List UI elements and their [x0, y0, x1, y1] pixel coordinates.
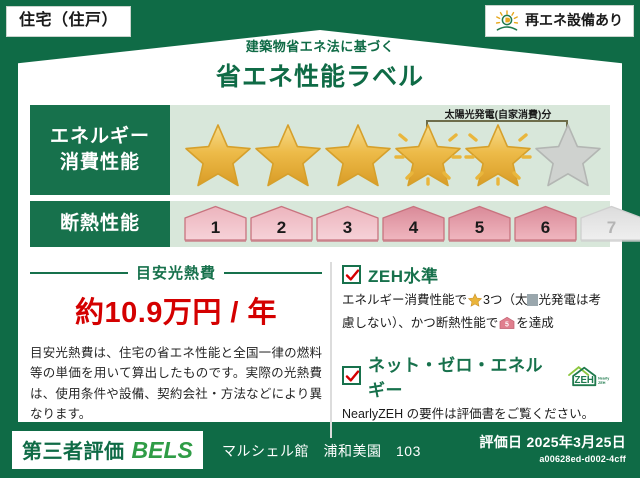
energy-performance-row: エネルギー 消費性能 太陽光発電(自家消費)分	[30, 105, 610, 195]
insulation-step-4: 4	[382, 205, 445, 243]
svg-text:ZEH: ZEH	[575, 374, 594, 385]
check-icon	[345, 369, 360, 384]
redacted-block	[527, 294, 538, 306]
energy-star-rating	[184, 121, 602, 187]
energy-star-3	[324, 121, 392, 187]
property-name: マルシェル館 浦和美園 103	[222, 441, 421, 461]
evaluation-date: 評価日 2025年3月25日	[479, 432, 626, 452]
zeh-body-part2: 3つ（太	[483, 293, 527, 307]
insulation-step-3: 3	[316, 205, 379, 243]
zeh-logo-icon: ZEH Nearly ZEH	[564, 364, 610, 388]
insulation-step-1: 1	[184, 205, 247, 243]
renewable-equipment-badge: 再エネ設備あり	[485, 5, 634, 37]
svg-text:ZEH: ZEH	[598, 380, 606, 384]
house-5-icon: 5	[499, 319, 515, 333]
footer-bar: 第三者評価 BELS マルシェル館 浦和美園 103 評価日 2025年3月25…	[0, 422, 640, 478]
criterion-net-zero-energy-header: ネット・ゼロ・エネルギー ZEH Nearly ZEH	[342, 351, 610, 401]
star-icon	[468, 296, 482, 310]
panel-divider	[330, 262, 332, 438]
insulation-step-5: 5	[448, 205, 511, 243]
energy-star-2	[254, 121, 322, 187]
utility-cost-value: 約10.9万円 / 年	[30, 289, 322, 331]
zeh-body-part4: を達成	[516, 316, 554, 330]
zeh-body-part1: エネルギー消費性能で	[342, 293, 467, 307]
insulation-step-scale: 1234567	[184, 205, 640, 243]
heading-rule-right	[224, 272, 322, 274]
insulation-step-label: 4	[382, 218, 445, 238]
criterion-net-zero-energy-body: NearlyZEH の要件は評価書をご覧ください。	[342, 404, 610, 424]
heading-rule-left	[30, 272, 128, 274]
renewable-equipment-label: 再エネ設備あり	[525, 13, 623, 28]
bels-logo-en: BELS	[132, 437, 193, 464]
criterion-zeh-standard-body: エネルギー消費性能で3つ（太光発電は考慮しない）、かつ断熱性能で5を達成	[342, 290, 610, 337]
criteria-panel: ZEH水準 エネルギー消費性能で3つ（太光発電は考慮しない）、かつ断熱性能で5を…	[342, 262, 610, 438]
check-icon	[345, 268, 360, 283]
evaluation-id: a00628ed-d002-4cff	[479, 454, 626, 464]
insulation-step-6: 6	[514, 205, 577, 243]
utility-cost-panel: 目安光熱費 約10.9万円 / 年 目安光熱費は、住宅の省エネ性能と全国一律の燃…	[30, 262, 330, 438]
insulation-rating-area: 1234567	[170, 201, 610, 247]
insulation-performance-row: 断熱性能 1234567	[30, 201, 610, 247]
sun-solar-icon	[494, 10, 520, 32]
insulation-step-label: 5	[448, 218, 511, 238]
insulation-step-label: 7	[580, 218, 640, 238]
label-header: 建築物省エネ法に基づく 省エネ性能ラベル	[0, 36, 640, 93]
utility-cost-heading: 目安光熱費	[30, 262, 322, 283]
performance-section: エネルギー 消費性能 太陽光発電(自家消費)分 断熱性能 1234567	[30, 105, 610, 253]
insulation-step-label: 2	[250, 218, 313, 238]
energy-label-line1: エネルギー	[50, 124, 150, 150]
criterion-zeh-standard-title: ZEH水準	[368, 262, 439, 287]
energy-star-1	[184, 121, 252, 187]
energy-label-line2: 消費性能	[60, 150, 140, 176]
criterion-zeh-standard: ZEH水準 エネルギー消費性能で3つ（太光発電は考慮しない）、かつ断熱性能で5を…	[342, 262, 610, 337]
insulation-step-2: 2	[250, 205, 313, 243]
lower-panels: 目安光熱費 約10.9万円 / 年 目安光熱費は、住宅の省エネ性能と全国一律の燃…	[30, 262, 610, 438]
utility-cost-description: 目安光熱費は、住宅の省エネ性能と全国一律の燃料等の単価を用いて算出したものです。…	[30, 343, 322, 424]
criterion-net-zero-energy: ネット・ゼロ・エネルギー ZEH Nearly ZEH NearlyZEH の要…	[342, 351, 610, 424]
solar-generation-note: 太陽光発電(自家消費)分	[418, 106, 578, 121]
insulation-step-label: 3	[316, 218, 379, 238]
svg-text:5: 5	[505, 322, 509, 329]
insulation-step-label: 6	[514, 218, 577, 238]
criterion-net-zero-energy-title: ネット・ゼロ・エネルギー	[368, 351, 553, 401]
energy-star-4	[394, 121, 462, 187]
checkbox-net-zero-energy[interactable]	[342, 366, 361, 385]
energy-performance-label: エネルギー 消費性能	[30, 105, 170, 195]
energy-rating-area: 太陽光発電(自家消費)分	[170, 105, 610, 195]
insulation-step-7: 7	[580, 205, 640, 243]
evaluation-info: 評価日 2025年3月25日 a00628ed-d002-4cff	[479, 432, 626, 464]
insulation-step-label: 1	[184, 218, 247, 238]
bels-logo: 第三者評価 BELS	[12, 431, 203, 469]
house-type-badge: 住宅（住戸）	[6, 6, 131, 37]
insulation-performance-label: 断熱性能	[30, 201, 170, 247]
bels-logo-ja: 第三者評価	[22, 435, 125, 464]
checkbox-zeh-standard[interactable]	[342, 265, 361, 284]
criterion-zeh-standard-header: ZEH水準	[342, 262, 610, 287]
header-subtitle: 建築物省エネ法に基づく	[0, 36, 640, 55]
energy-star-6	[534, 121, 602, 187]
energy-star-5	[464, 121, 532, 187]
header-title: 省エネ性能ラベル	[0, 57, 640, 93]
utility-cost-heading-text: 目安光熱費	[136, 262, 216, 283]
